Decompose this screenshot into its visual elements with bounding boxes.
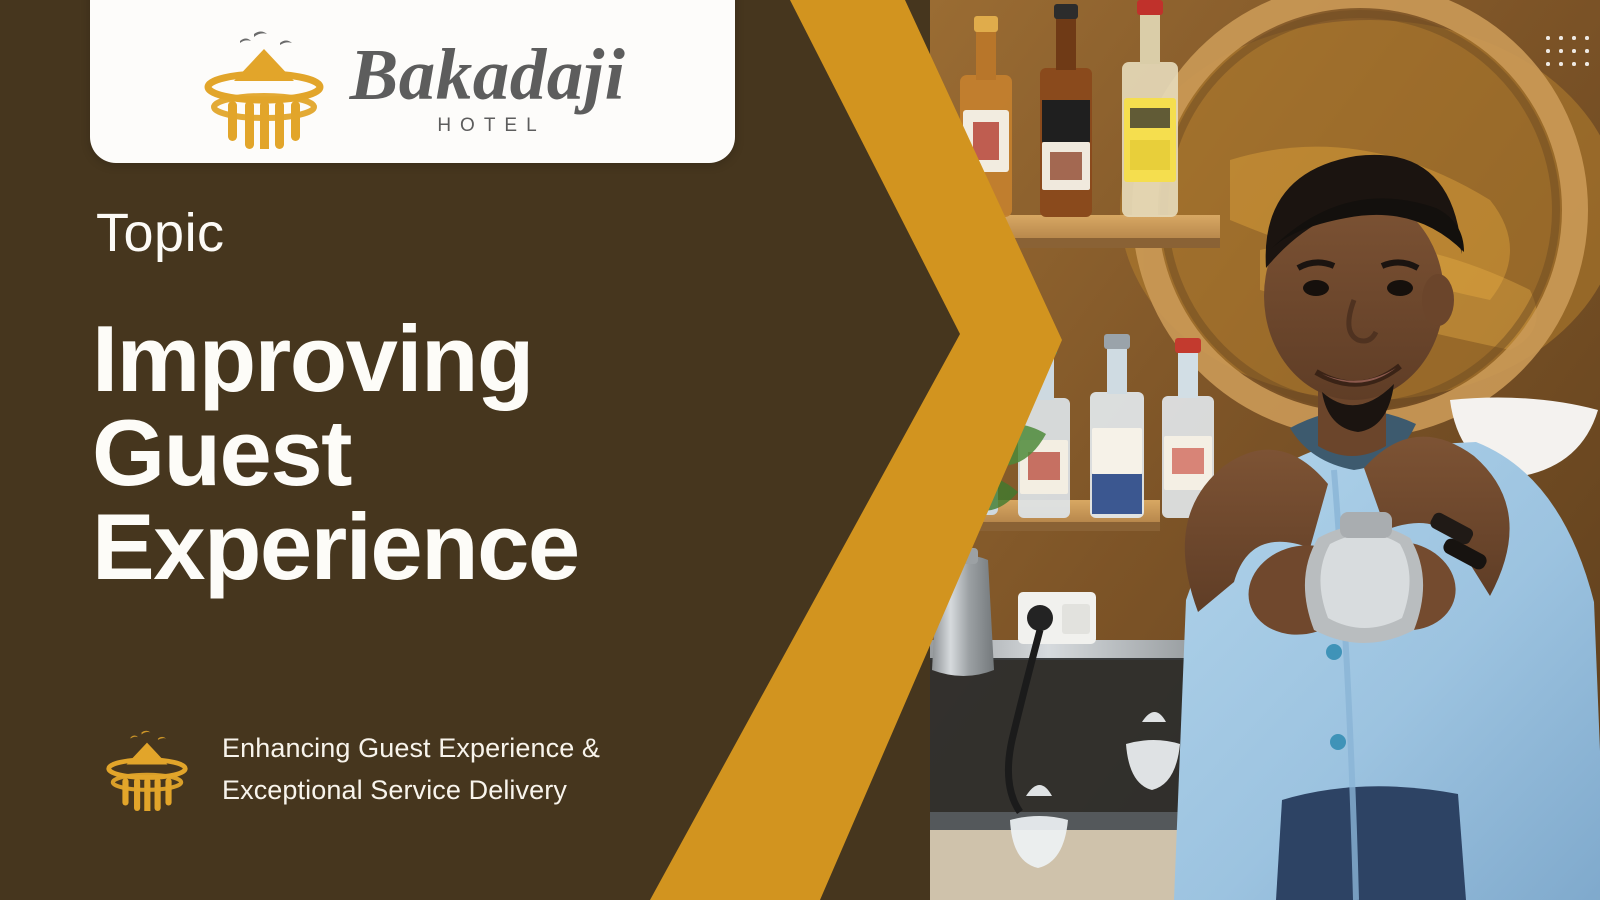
brand-name: Bakadaji	[350, 41, 626, 108]
hut-pavilion-icon	[100, 729, 194, 811]
slide-headline: Improving Guest Experience	[92, 312, 792, 594]
brand-logo-card: Bakadaji HOTEL	[90, 0, 735, 163]
bartender-photo	[930, 0, 1600, 900]
slide-subtitle: Enhancing Guest Experience & Exceptional…	[222, 728, 600, 812]
subtitle-line-1: Enhancing Guest Experience &	[222, 728, 600, 770]
dot-grid-icon	[1542, 32, 1594, 71]
hut-pavilion-icon	[200, 29, 328, 149]
subtitle-line-2: Exceptional Service Delivery	[222, 770, 600, 812]
brand-subtitle: HOTEL	[429, 115, 545, 137]
slide-subtitle-row: Enhancing Guest Experience & Exceptional…	[100, 728, 600, 812]
headline-line-3: Experience	[92, 500, 792, 594]
headline-line-1: Improving	[92, 312, 792, 406]
presentation-slide: Bakadaji HOTEL Topic Improving Guest Exp…	[0, 0, 1600, 900]
headline-line-2: Guest	[92, 406, 792, 500]
topic-eyebrow-label: Topic	[96, 206, 225, 260]
